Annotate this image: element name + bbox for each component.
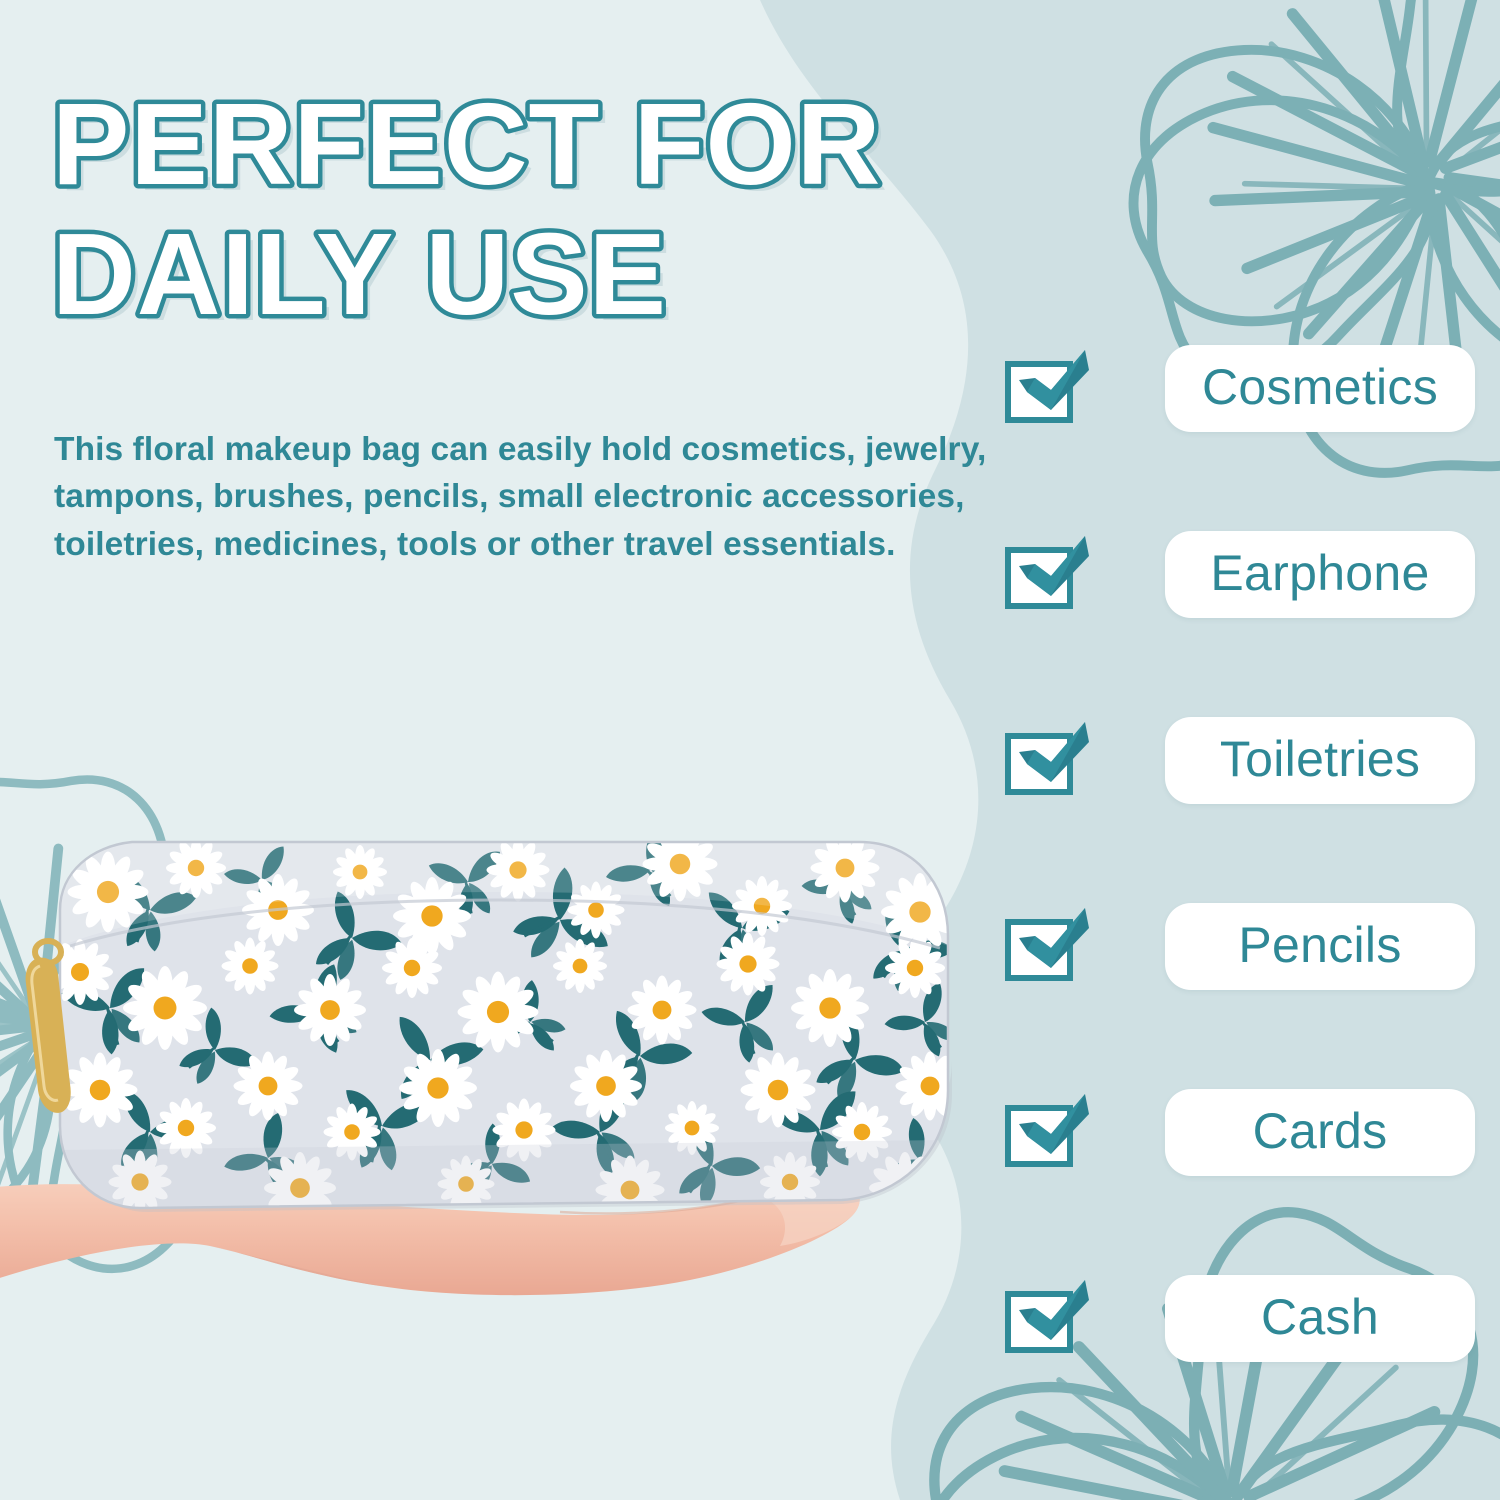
checkbox-checked-icon[interactable] [1005, 534, 1091, 614]
makeup-bag [26, 824, 980, 1230]
checkbox-checked-icon[interactable] [1005, 906, 1091, 986]
features-checklist: Cosmetics Earphone Toiletries [1005, 340, 1475, 1366]
checklist-label: Cash [1165, 1275, 1475, 1362]
checklist-label: Cards [1165, 1089, 1475, 1176]
checklist-item-cards[interactable]: Cards [1005, 1084, 1475, 1180]
page-title-line2: DAILY USE [52, 209, 667, 339]
product-description: This floral makeup bag can easily hold c… [54, 426, 1004, 570]
checkbox-checked-icon[interactable] [1005, 1092, 1091, 1172]
checklist-label: Cosmetics [1165, 345, 1475, 432]
checklist-item-cash[interactable]: Cash [1005, 1270, 1475, 1366]
poster-canvas: PERFECT FOR PERFECT FOR DAILY USE DAILY … [0, 0, 1500, 1500]
checklist-item-earphone[interactable]: Earphone [1005, 526, 1475, 622]
checkbox-checked-icon[interactable] [1005, 720, 1091, 800]
checklist-label: Toiletries [1165, 717, 1475, 804]
product-photo [0, 760, 1010, 1500]
checklist-label: Pencils [1165, 903, 1475, 990]
page-title: PERFECT FOR PERFECT FOR DAILY USE DAILY … [50, 72, 1050, 342]
checklist-label: Earphone [1165, 531, 1475, 618]
checklist-item-toiletries[interactable]: Toiletries [1005, 712, 1475, 808]
checklist-item-cosmetics[interactable]: Cosmetics [1005, 340, 1475, 436]
page-title-line1: PERFECT FOR [52, 79, 881, 209]
checkbox-checked-icon[interactable] [1005, 1278, 1091, 1358]
checklist-item-pencils[interactable]: Pencils [1005, 898, 1475, 994]
checkbox-checked-icon[interactable] [1005, 348, 1091, 428]
